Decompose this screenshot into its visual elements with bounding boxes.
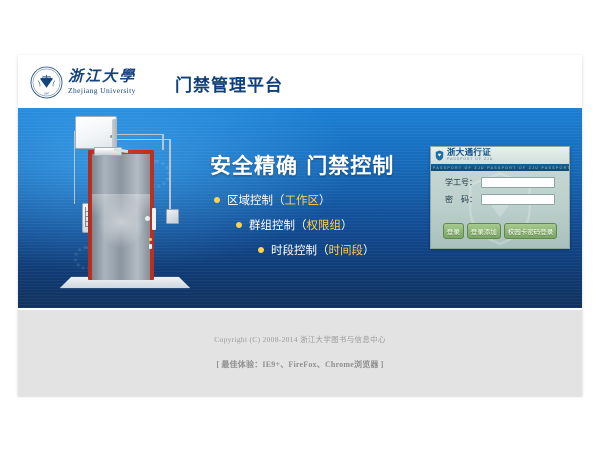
login-add-button[interactable]: 登录添加 xyxy=(467,223,501,239)
card-reader xyxy=(166,209,179,224)
door-handle xyxy=(145,216,150,221)
feature-highlight: 权限组 xyxy=(307,217,342,233)
door-status-led xyxy=(149,244,152,249)
browser-support-text: [ 最佳体验：IE9+、FireFox、Chrome浏览器 ] xyxy=(18,359,582,370)
access-control-illustration xyxy=(38,108,198,308)
logo-english-name: Zhejiang University xyxy=(68,86,136,95)
site-header: 1897 浙江大學 Zhejiang University 门禁管理平台 xyxy=(18,55,582,109)
bullet-dot-icon xyxy=(214,197,220,203)
wire xyxy=(115,134,164,135)
login-panel: 浙大通行证 PASSPORT OF ZJU PASSPORT OF ZJU PA… xyxy=(430,146,570,249)
feature-highlight: 时间段 xyxy=(329,242,364,258)
login-panel-strip: PASSPORT OF ZJU PASSPORT OF ZJU PASSPORT… xyxy=(431,164,569,171)
access-controller-box xyxy=(75,116,117,149)
login-strip-text: PASSPORT OF ZJU PASSPORT OF ZJU PASSPORT… xyxy=(431,165,569,169)
login-title-block: 浙大通行证 PASSPORT OF ZJU xyxy=(447,149,493,162)
hero-banner: 安全精确 门禁控制 区域控制（工作区） 群组控制（权限组） 时段控制（时间段） xyxy=(18,108,582,308)
wire xyxy=(169,139,171,209)
campus-card-login-button[interactable]: 校园卡密码登录 xyxy=(504,223,558,239)
list-item: 时段控制（时间段） xyxy=(258,242,375,258)
feature-label: 时段控制（ xyxy=(271,242,329,258)
login-form: 学工号： 密 码： xyxy=(431,177,569,211)
login-panel-header: 浙大通行证 PASSPORT OF ZJU xyxy=(431,147,569,165)
wire xyxy=(115,139,171,140)
bullet-dot-icon xyxy=(236,222,242,228)
feature-label: 区域控制（ xyxy=(227,192,285,208)
feature-list: 区域控制（工作区） 群组控制（权限组） 时段控制（时间段） xyxy=(214,192,375,267)
page-root: 1897 浙江大學 Zhejiang University 门禁管理平台 xyxy=(0,0,600,450)
username-row: 学工号： xyxy=(431,177,569,188)
security-door xyxy=(88,150,154,280)
login-panel-title: 浙大通行证 xyxy=(447,149,493,158)
shield-icon xyxy=(435,150,444,161)
list-item: 群组控制（权限组） xyxy=(236,217,375,233)
door-status-led xyxy=(149,238,152,241)
logo-text-block: 浙江大學 Zhejiang University xyxy=(68,66,136,99)
door-panel xyxy=(92,154,150,280)
site-footer: Copyright (C) 2008-2014 浙江大学图书与信息中心 [ 最佳… xyxy=(18,308,582,397)
login-button-row: 登录 登录添加 校园卡密码登录 xyxy=(431,223,569,239)
username-label: 学工号： xyxy=(431,177,481,188)
username-input[interactable] xyxy=(481,177,555,188)
login-panel-subtitle: PASSPORT OF ZJU xyxy=(447,158,493,162)
door-lock-plate xyxy=(152,208,156,230)
svg-text:1897: 1897 xyxy=(44,92,50,95)
university-logo[interactable]: 1897 浙江大學 Zhejiang University xyxy=(30,64,136,100)
feature-suffix: ） xyxy=(319,192,331,208)
feature-suffix: ） xyxy=(341,217,353,233)
zju-seal-icon: 1897 xyxy=(30,66,63,99)
list-item: 区域控制（工作区） xyxy=(214,192,375,208)
feature-label: 群组控制（ xyxy=(249,217,307,233)
bullet-dot-icon xyxy=(258,247,264,253)
access-controller-box-side xyxy=(112,118,117,147)
copyright-text: Copyright (C) 2008-2014 浙江大学图书与信息中心 xyxy=(18,334,582,345)
login-button[interactable]: 登录 xyxy=(443,223,464,239)
page-title: 门禁管理平台 xyxy=(175,71,283,96)
wire xyxy=(162,134,164,150)
password-input[interactable] xyxy=(481,194,555,205)
password-label: 密 码： xyxy=(431,194,481,205)
feature-highlight: 工作区 xyxy=(285,192,320,208)
feature-suffix: ） xyxy=(363,242,375,258)
logo-chinese-name: 浙江大學 xyxy=(68,69,136,86)
password-row: 密 码： xyxy=(431,194,569,205)
banner-headline: 安全精确 门禁控制 xyxy=(210,150,394,180)
door-highlight-band xyxy=(92,194,150,216)
